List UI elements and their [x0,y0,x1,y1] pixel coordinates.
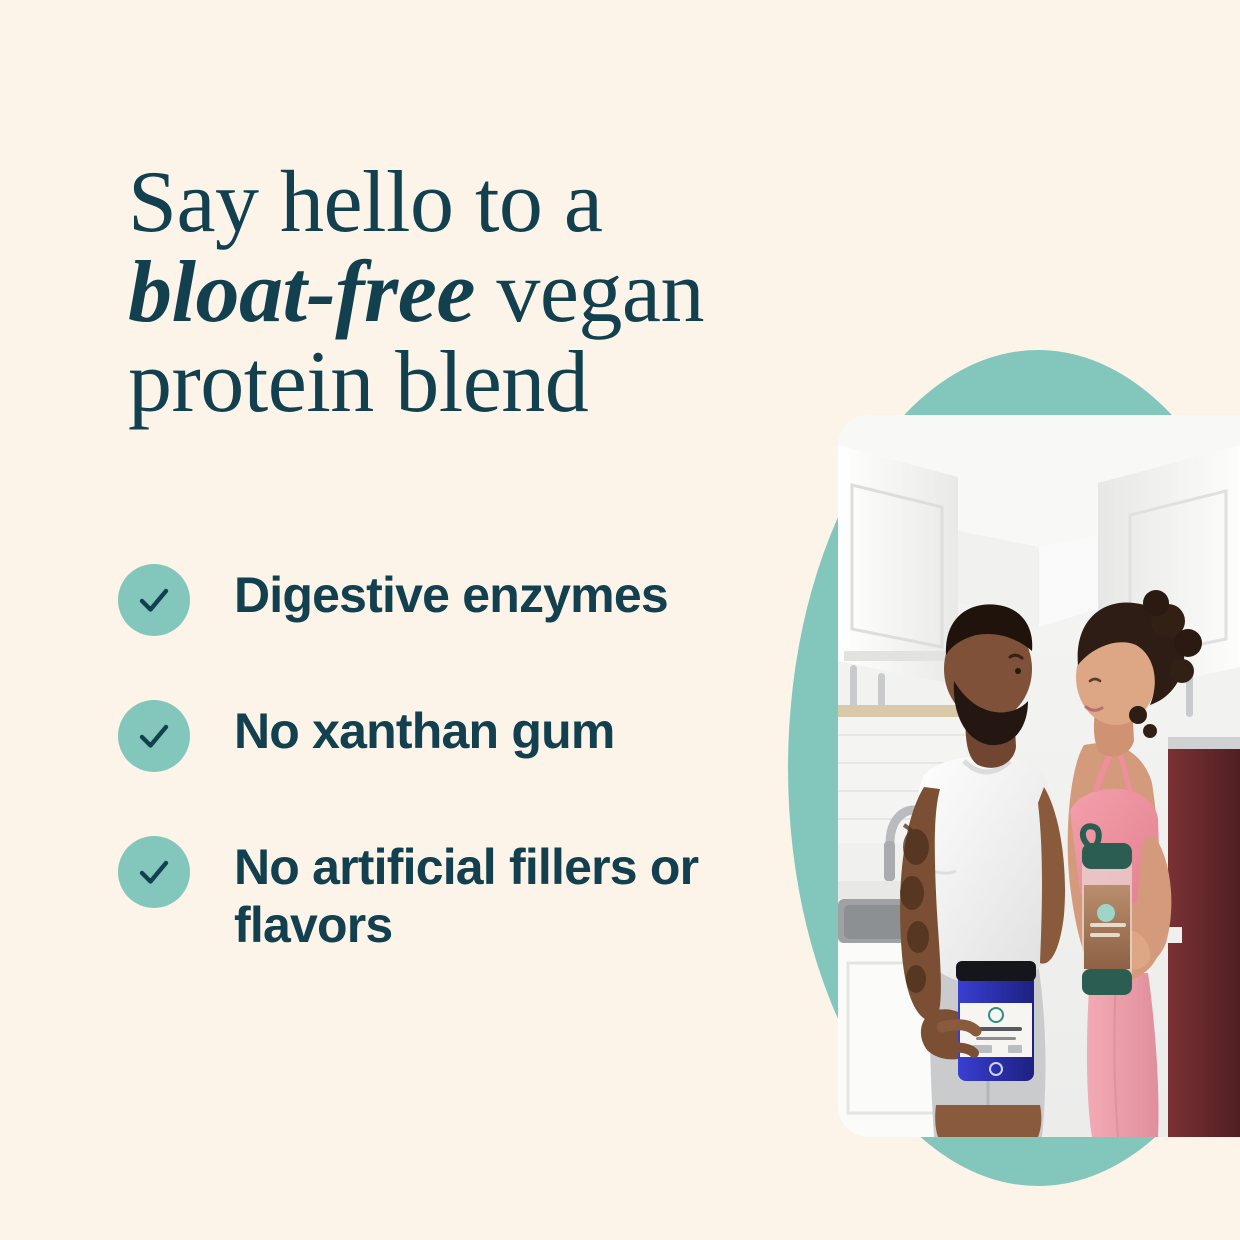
page-title: Say hello to a bloat-free vegan protein … [128,158,868,427]
list-item: No artificial fillers or flavors [118,834,818,954]
check-icon [118,564,190,636]
headline-line-3: protein blend [128,338,868,428]
list-item: No xanthan gum [118,698,818,772]
headline-line-2: bloat-free vegan [128,248,868,338]
benefit-label: No artificial fillers or flavors [234,834,774,954]
headline-line-1: Say hello to a [128,158,868,248]
benefit-label: No xanthan gum [234,698,614,760]
check-icon [118,700,190,772]
benefit-label: Digestive enzymes [234,562,668,624]
check-icon [118,836,190,908]
headline-line-2-rest: vegan [475,244,704,341]
promo-canvas: Say hello to a bloat-free vegan protein … [0,0,1240,1240]
list-item: Digestive enzymes [118,562,818,636]
benefit-list: Digestive enzymes No xanthan gum No arti… [118,562,818,954]
headline-emphasis: bloat-free [128,244,475,341]
lifestyle-photo [838,415,1240,1137]
